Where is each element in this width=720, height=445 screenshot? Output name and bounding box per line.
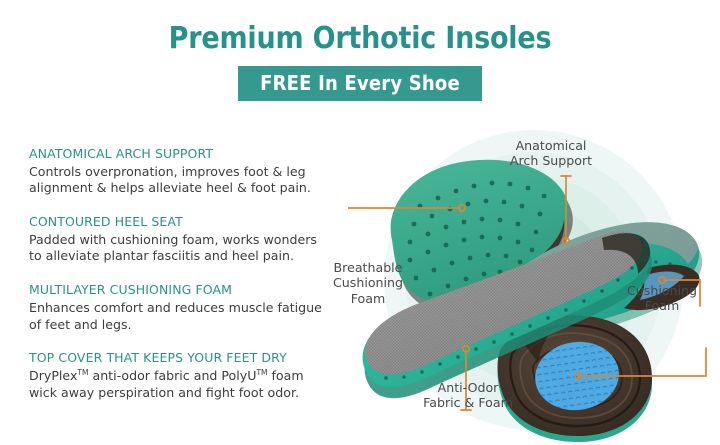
free-badge: FREE In Every Shoe <box>238 66 482 101</box>
callout-line: Anti-Odor <box>398 380 538 395</box>
trademark-symbol: TM <box>256 368 267 377</box>
feature-body: Controls overpronation, improves foot & … <box>29 164 329 197</box>
callout-line: Arch Support <box>486 153 616 168</box>
callout-line: Cushioning <box>316 275 420 290</box>
feature-item-arch-support: ANATOMICAL ARCH SUPPORT Controls overpro… <box>29 146 329 197</box>
callout-breathable-cushioning-foam: Breathable Cushioning Foam <box>316 260 420 306</box>
feature-body: Enhances comfort and reduces muscle fati… <box>29 300 329 333</box>
callout-line: Breathable <box>316 260 420 275</box>
feature-body-middle: anti-odor fabric and PolyU <box>88 368 256 383</box>
feature-title: ANATOMICAL ARCH SUPPORT <box>29 146 329 162</box>
callout-line: Cushioning <box>612 283 712 298</box>
feature-title: CONTOURED HEEL SEAT <box>29 214 329 230</box>
feature-item-top-cover: TOP COVER THAT KEEPS YOUR FEET DRY DryPl… <box>29 350 329 401</box>
feature-item-heel-seat: CONTOURED HEEL SEAT Padded with cushioni… <box>29 214 329 265</box>
callout-line: Anatomical <box>486 138 616 153</box>
callout-line: Fabric & Foam <box>398 395 538 410</box>
callout-line: Foam <box>612 298 712 313</box>
page-title: Premium Orthotic Insoles <box>0 0 720 56</box>
callout-line: Foam <box>316 291 420 306</box>
feature-body: Padded with cushioning foam, works wonde… <box>29 232 329 265</box>
feature-body: DryPlexTM anti-odor fabric and PolyUTM f… <box>29 368 329 401</box>
feature-title: TOP COVER THAT KEEPS YOUR FEET DRY <box>29 350 329 366</box>
feature-title: MULTILAYER CUSHIONING FOAM <box>29 282 329 298</box>
callout-cushioning-foam: Cushioning Foam <box>612 283 712 314</box>
feature-list: ANATOMICAL ARCH SUPPORT Controls overpro… <box>29 146 329 418</box>
feature-body-dryplex: DryPlex <box>29 368 77 383</box>
header: Premium Orthotic Insoles FREE In Every S… <box>0 0 720 101</box>
callout-anatomical-arch-support: Anatomical Arch Support <box>486 138 616 169</box>
trademark-symbol: TM <box>77 368 88 377</box>
feature-item-cushioning-foam: MULTILAYER CUSHIONING FOAM Enhances comf… <box>29 282 329 333</box>
callout-anti-odor-fabric-foam: Anti-Odor Fabric & Foam <box>398 380 538 411</box>
